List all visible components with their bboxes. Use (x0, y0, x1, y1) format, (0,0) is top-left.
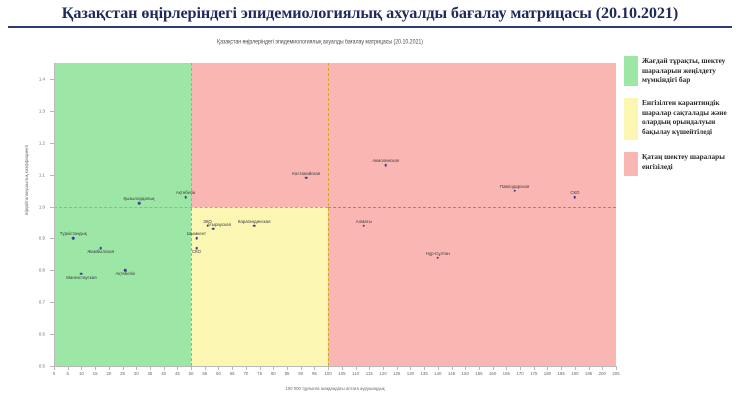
x-tick-mark (95, 366, 96, 370)
x-tick-label: 80 (271, 371, 276, 376)
x-tick-mark (150, 366, 151, 370)
title-underline (8, 26, 732, 28)
data-point-label: Алматы (356, 219, 372, 224)
data-point-label: Костанайская (292, 171, 320, 176)
x-tick-mark (520, 366, 521, 370)
x-tick-mark (547, 366, 548, 370)
x-tick-label: 160 (489, 371, 496, 376)
x-tick-mark (356, 366, 357, 370)
x-tick-label: 125 (393, 371, 400, 376)
x-tick-label: 45 (175, 371, 180, 376)
x-tick-label: 135 (420, 371, 427, 376)
x-tick-label: 100 (324, 371, 331, 376)
data-point-label: Карагандинская (238, 219, 271, 224)
data-point-label: Акмолинская (372, 158, 399, 163)
data-point-label: СКО (192, 249, 201, 254)
legend-swatch-red-icon (624, 152, 638, 176)
x-tick-mark (191, 366, 192, 370)
data-point-label: Ақтөбелік (116, 271, 136, 276)
x-axis-title: 100 000 тұрғынға шаққандағы аптаға ауруш… (54, 386, 616, 391)
y-tick-mark (50, 143, 54, 144)
y-tick-mark (50, 175, 54, 176)
x-tick-label: 185 (557, 371, 564, 376)
x-tick-mark (383, 366, 384, 370)
x-tick-mark (616, 366, 617, 370)
x-tick-label: 5 (66, 371, 68, 376)
x-tick-mark (287, 366, 288, 370)
legend-swatch-yellow-icon (624, 98, 638, 140)
x-tick-label: 115 (366, 371, 373, 376)
x-tick-label: 85 (285, 371, 290, 376)
x-tick-label: 15 (93, 371, 98, 376)
y-tick-label: 0.7 (0, 300, 48, 305)
plot-area: ҚызылордалықАқтөбелікТүркістандықЖамбылс… (54, 63, 616, 366)
data-point[interactable] (513, 189, 516, 192)
x-tick-label: 140 (434, 371, 441, 376)
x-tick-mark (123, 366, 124, 370)
x-tick-label: 95 (312, 371, 317, 376)
x-tick-label: 205 (612, 371, 619, 376)
x-tick-label: 110 (352, 371, 359, 376)
x-tick-label: 65 (230, 371, 235, 376)
x-tick-mark (506, 366, 507, 370)
x-tick-mark (602, 366, 603, 370)
data-point[interactable] (253, 224, 256, 227)
data-point-label: Қызылордалық (124, 196, 155, 201)
x-tick-mark (369, 366, 370, 370)
x-tick-mark (68, 366, 69, 370)
y-tick-mark (50, 366, 54, 367)
x-tick-mark (109, 366, 110, 370)
data-point-label: Атырауская (207, 222, 231, 227)
x-tick-label: 70 (243, 371, 248, 376)
x-tick-label: 10 (79, 371, 84, 376)
data-point-label: Түркістандық (60, 231, 87, 236)
data-point-label: СКО (570, 190, 579, 195)
chart-subtitle: Қазақстан өңірлеріндегі эпидемиологиялық… (40, 39, 600, 46)
x-tick-mark (534, 366, 535, 370)
data-point-label: Шымкент (187, 231, 206, 236)
y-tick-mark (50, 79, 54, 80)
x-tick-mark (561, 366, 562, 370)
chart-page: Қазақстан өңірлеріндегі эпидемиологиялық… (0, 0, 740, 411)
x-tick-mark (493, 366, 494, 370)
x-tick-label: 50 (189, 371, 194, 376)
x-tick-mark (136, 366, 137, 370)
x-tick-mark (314, 366, 315, 370)
data-point[interactable] (305, 177, 308, 180)
data-point[interactable] (574, 196, 577, 199)
x-tick-mark (164, 366, 165, 370)
data-point[interactable] (72, 237, 75, 240)
x-tick-mark (397, 366, 398, 370)
y-axis-line (54, 63, 55, 366)
x-tick-label: 75 (257, 371, 262, 376)
x-tick-label: 35 (147, 371, 152, 376)
legend-item-red: Қатаң шектеу шаралары енгізіледі (624, 152, 736, 176)
y-tick-label: 0.9 (0, 236, 48, 241)
x-tick-label: 165 (503, 371, 510, 376)
x-tick-mark (177, 366, 178, 370)
x-tick-label: 120 (379, 371, 386, 376)
x-tick-mark (589, 366, 590, 370)
y-tick-label: 0.8 (0, 268, 48, 273)
zone-green (54, 63, 191, 366)
legend-label-yellow: Енгізілген карантиндік шаралар сақталады… (642, 98, 736, 136)
x-tick-mark (342, 366, 343, 370)
zone-red-upper-middle (191, 63, 328, 207)
x-tick-label: 195 (585, 371, 592, 376)
y-tick-mark (50, 207, 54, 208)
data-point[interactable] (384, 164, 387, 167)
x-tick-label: 175 (530, 371, 537, 376)
y-axis-title: Бірқайталанушылық коэффициенті (24, 145, 29, 215)
legend: Жағдай тұрақты, шектеу шараларын жеңілде… (624, 56, 736, 188)
zone-red (328, 63, 616, 366)
x-tick-label: 20 (106, 371, 111, 376)
x-tick-label: 60 (216, 371, 221, 376)
data-point[interactable] (212, 228, 215, 231)
y-tick-label: 1.3 (0, 108, 48, 113)
x-tick-label: 200 (599, 371, 606, 376)
legend-swatch-green-icon (624, 56, 638, 86)
y-tick-mark (50, 302, 54, 303)
data-point-label: Павлодарская (500, 184, 529, 189)
x-tick-mark (465, 366, 466, 370)
x-tick-mark (328, 366, 329, 370)
data-point[interactable] (184, 196, 187, 199)
x-tick-label: 40 (161, 371, 166, 376)
x-tick-mark (54, 366, 55, 370)
x-tick-mark (246, 366, 247, 370)
x-tick-label: 90 (298, 371, 303, 376)
x-tick-label: 0 (53, 371, 55, 376)
x-tick-mark (218, 366, 219, 370)
x-tick-mark (575, 366, 576, 370)
data-point-label: Ақтөбелік (176, 190, 196, 195)
y-tick-label: 1.4 (0, 76, 48, 81)
y-tick-mark (50, 111, 54, 112)
legend-label-red: Қатаң шектеу шаралары енгізіледі (642, 152, 736, 171)
data-point-label: Мангистауская (66, 275, 96, 280)
data-point-label: Жамбылская (87, 249, 114, 254)
page-title: Қазақстан өңірлеріндегі эпидемиологиялық… (0, 4, 740, 23)
x-tick-mark (410, 366, 411, 370)
y-tick-mark (50, 334, 54, 335)
x-tick-label: 145 (448, 371, 455, 376)
x-tick-label: 30 (134, 371, 139, 376)
x-tick-label: 180 (544, 371, 551, 376)
x-tick-label: 25 (120, 371, 125, 376)
x-tick-mark (260, 366, 261, 370)
x-tick-label: 190 (571, 371, 578, 376)
legend-label-green: Жағдай тұрақты, шектеу шараларын жеңілде… (642, 56, 736, 85)
x-tick-mark (273, 366, 274, 370)
x-tick-mark (205, 366, 206, 370)
x-tick-mark (232, 366, 233, 370)
x-tick-mark (424, 366, 425, 370)
x-tick-label: 55 (202, 371, 207, 376)
legend-item-yellow: Енгізілген карантиндік шаралар сақталады… (624, 98, 736, 140)
data-point[interactable] (138, 202, 141, 205)
data-point[interactable] (195, 237, 198, 240)
x-axis-line (54, 366, 616, 367)
data-point[interactable] (362, 224, 365, 227)
x-tick-label: 130 (407, 371, 414, 376)
x-tick-label: 155 (475, 371, 482, 376)
x-tick-mark (301, 366, 302, 370)
x-tick-label: 170 (516, 371, 523, 376)
x-tick-label: 105 (338, 371, 345, 376)
x-tick-mark (452, 366, 453, 370)
x-tick-mark (438, 366, 439, 370)
x-tick-label: 150 (462, 371, 469, 376)
x-tick-mark (479, 366, 480, 370)
data-point-label: Нұр-Сұлтан (426, 251, 450, 256)
y-tick-mark (50, 270, 54, 271)
data-point[interactable] (437, 256, 440, 259)
y-tick-label: 0.5 (0, 364, 48, 369)
x-tick-mark (81, 366, 82, 370)
y-tick-label: 0.6 (0, 332, 48, 337)
legend-item-green: Жағдай тұрақты, шектеу шараларын жеңілде… (624, 56, 736, 86)
y-tick-mark (50, 238, 54, 239)
